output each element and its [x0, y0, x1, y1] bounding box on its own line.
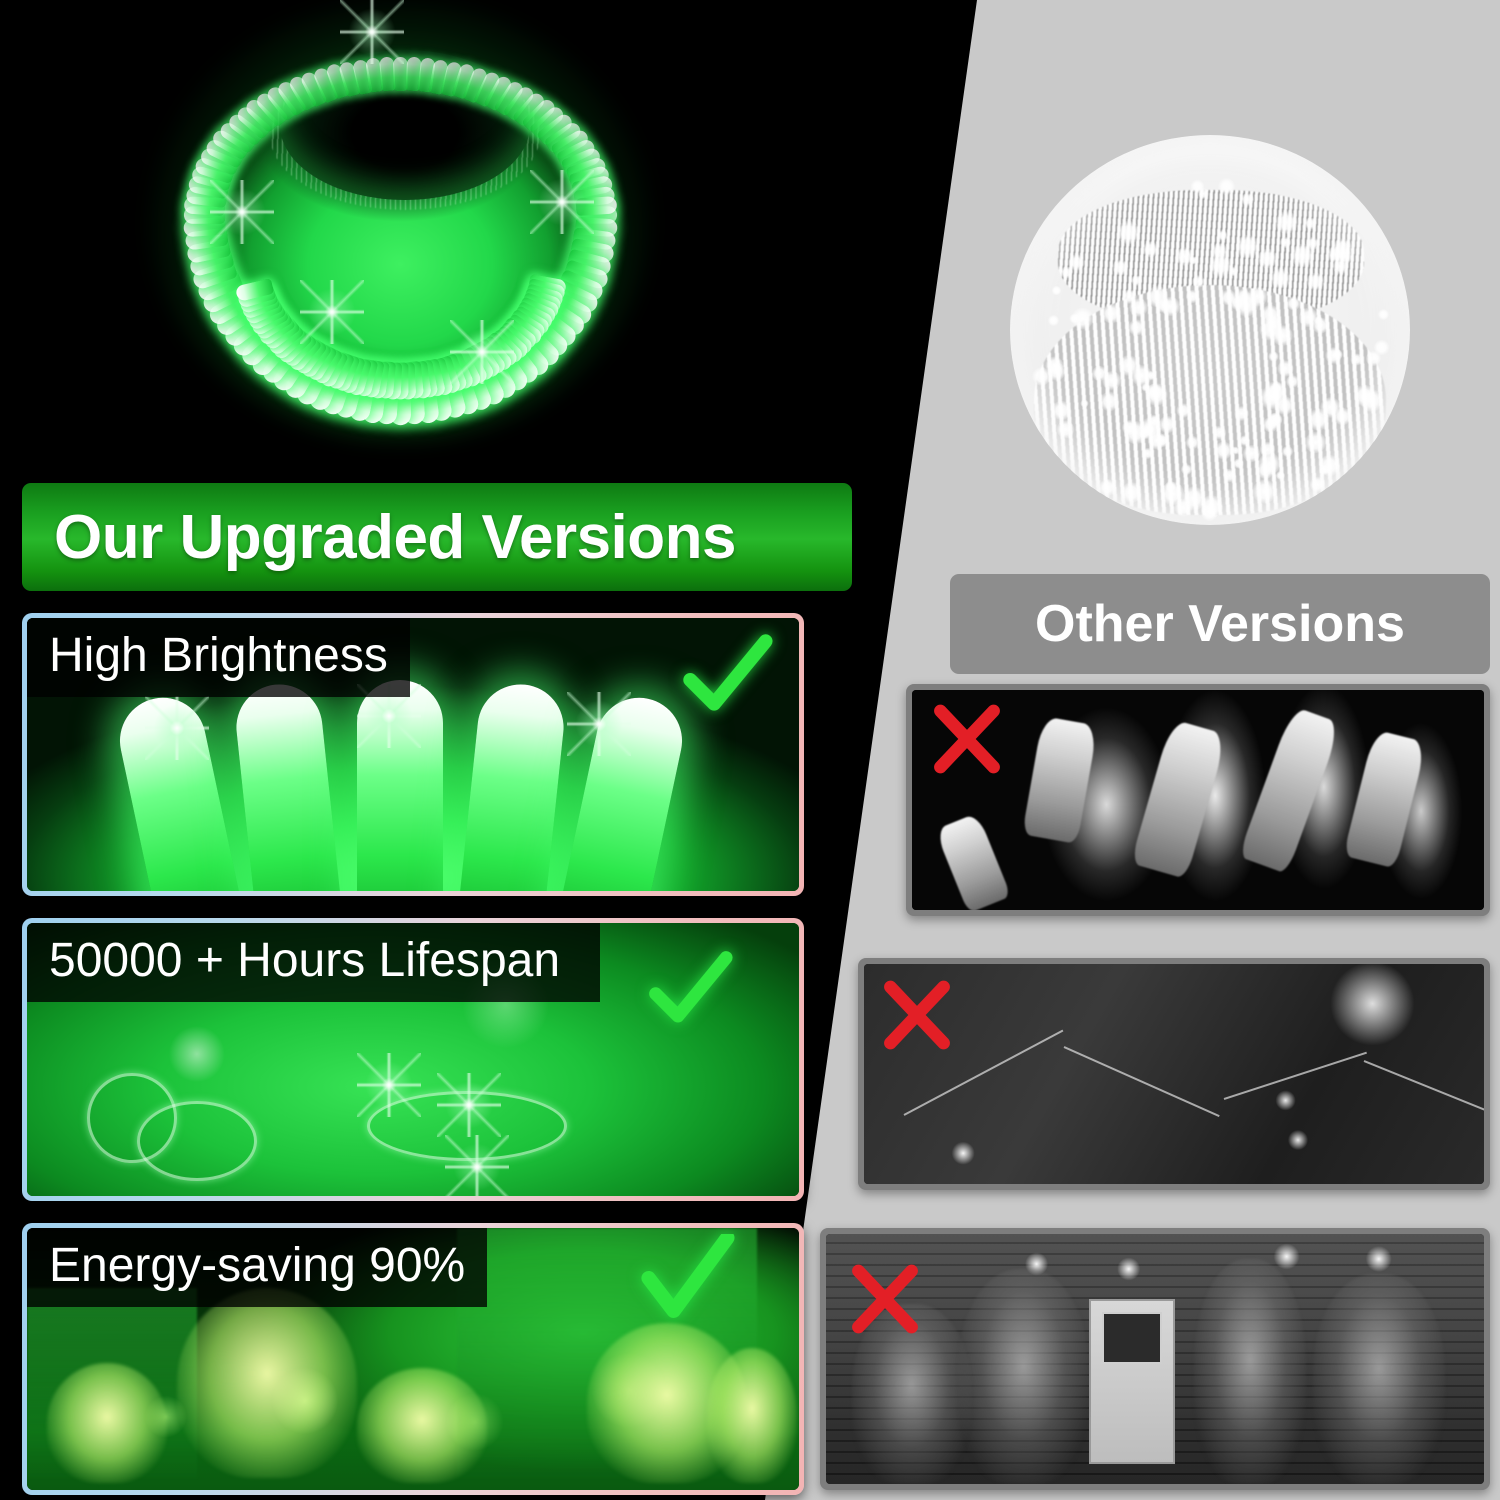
- dim-tree: [1194, 1259, 1306, 1484]
- light-highlight: [1056, 420, 1074, 438]
- light-highlight: [1360, 389, 1383, 412]
- our-upgraded-versions-banner: Our Upgraded Versions: [22, 483, 852, 591]
- lit-tree: [177, 1288, 357, 1478]
- light-highlight: [1332, 239, 1352, 259]
- wire-curl: [137, 1101, 257, 1181]
- hero-other-coil-image: [1010, 135, 1410, 525]
- light-highlight: [1117, 221, 1140, 244]
- light-highlight: [1213, 425, 1227, 439]
- other-panel-dull-bulbs: [906, 684, 1490, 916]
- feature-caption: 50000 + Hours Lifespan: [27, 923, 600, 1002]
- light-highlight: [1214, 442, 1232, 460]
- light-highlight: [1175, 247, 1194, 266]
- light-highlight: [1304, 431, 1325, 452]
- feature-caption: Energy-saving 90%: [27, 1228, 487, 1307]
- led-bulb: [357, 680, 443, 891]
- our-upgraded-versions-label: Our Upgraded Versions: [22, 502, 736, 573]
- light-highlight: [1334, 408, 1352, 426]
- light-highlight: [1218, 178, 1235, 195]
- other-panel-dim-house: [820, 1228, 1490, 1490]
- light-highlight: [1182, 487, 1206, 511]
- light-highlight: [1101, 304, 1121, 324]
- light-highlight: [1235, 292, 1259, 316]
- light-highlight: [1350, 353, 1362, 365]
- green-check-icon: [647, 949, 733, 1035]
- light-highlight: [1128, 319, 1144, 335]
- light-highlight: [1232, 446, 1240, 454]
- light-highlight: [1122, 289, 1137, 304]
- light-highlight: [1142, 448, 1153, 459]
- light-highlight: [1118, 355, 1139, 376]
- light-highlight: [1252, 480, 1276, 504]
- light-highlight: [1186, 436, 1199, 449]
- dim-tree: [1313, 1274, 1445, 1484]
- light-highlight: [1287, 296, 1301, 310]
- light-highlight: [1333, 258, 1348, 273]
- other-versions-label: Other Versions: [1035, 594, 1405, 654]
- feature-caption: High Brightness: [27, 618, 410, 697]
- hero-green-coil-image: [0, 0, 760, 470]
- light-highlight: [1310, 477, 1325, 492]
- light-highlight: [1270, 268, 1290, 288]
- light-highlight: [1307, 272, 1325, 290]
- lit-tree: [357, 1368, 487, 1483]
- light-highlight: [1374, 339, 1389, 354]
- light-highlight: [1122, 482, 1143, 503]
- light-highlight: [1263, 416, 1278, 431]
- light-highlight: [1145, 384, 1168, 407]
- red-x-icon: [930, 702, 1004, 776]
- light-highlight: [1378, 309, 1389, 320]
- feature-panel-energy-saving: Energy-saving 90%: [22, 1223, 804, 1495]
- other-panel-dim-string: [858, 958, 1490, 1190]
- green-check-icon: [639, 1234, 735, 1330]
- green-coil-graphic: [150, 0, 650, 460]
- light-highlight: [1068, 254, 1084, 270]
- light-highlight: [1080, 399, 1088, 407]
- light-highlight: [1222, 469, 1235, 482]
- light-highlight: [1242, 445, 1259, 462]
- house-door-window: [1102, 1312, 1161, 1365]
- light-highlight: [1100, 392, 1120, 412]
- light-highlight: [1276, 471, 1285, 480]
- feature-panel-high-brightness: High Brightness: [22, 613, 804, 896]
- dim-string-photo: [864, 964, 1484, 1184]
- light-highlight: [1260, 442, 1276, 458]
- light-highlight: [1190, 180, 1204, 194]
- green-check-icon: [681, 632, 773, 724]
- light-highlight: [1306, 237, 1319, 250]
- wire-curl: [367, 1091, 567, 1161]
- led-bulb: [575, 196, 617, 216]
- dim-tree: [958, 1269, 1090, 1484]
- lit-tree: [707, 1348, 797, 1483]
- light-highlight: [1143, 242, 1159, 258]
- feature-panel-lifespan: 50000 + Hours Lifespan: [22, 918, 804, 1201]
- light-highlight: [1281, 446, 1292, 457]
- other-coil-vignette: [1010, 135, 1410, 525]
- light-highlight: [1314, 316, 1323, 325]
- lit-tree: [47, 1363, 167, 1483]
- coil-bulb-ring: [150, 0, 650, 460]
- other-versions-banner: Other Versions: [950, 574, 1490, 674]
- light-highlight: [1147, 286, 1168, 307]
- light-highlight: [1257, 248, 1277, 268]
- light-highlight: [1139, 417, 1161, 439]
- red-x-icon: [880, 978, 954, 1052]
- light-highlight: [1280, 237, 1291, 248]
- comparison-infographic: Our Upgraded Versions Other Versions Hig…: [0, 0, 1500, 1500]
- light-highlight: [1131, 275, 1142, 286]
- light-highlight: [1112, 260, 1128, 276]
- red-x-icon: [848, 1262, 922, 1336]
- light-highlight: [1239, 435, 1249, 445]
- light-highlight: [1201, 504, 1218, 521]
- light-highlight: [1186, 289, 1199, 302]
